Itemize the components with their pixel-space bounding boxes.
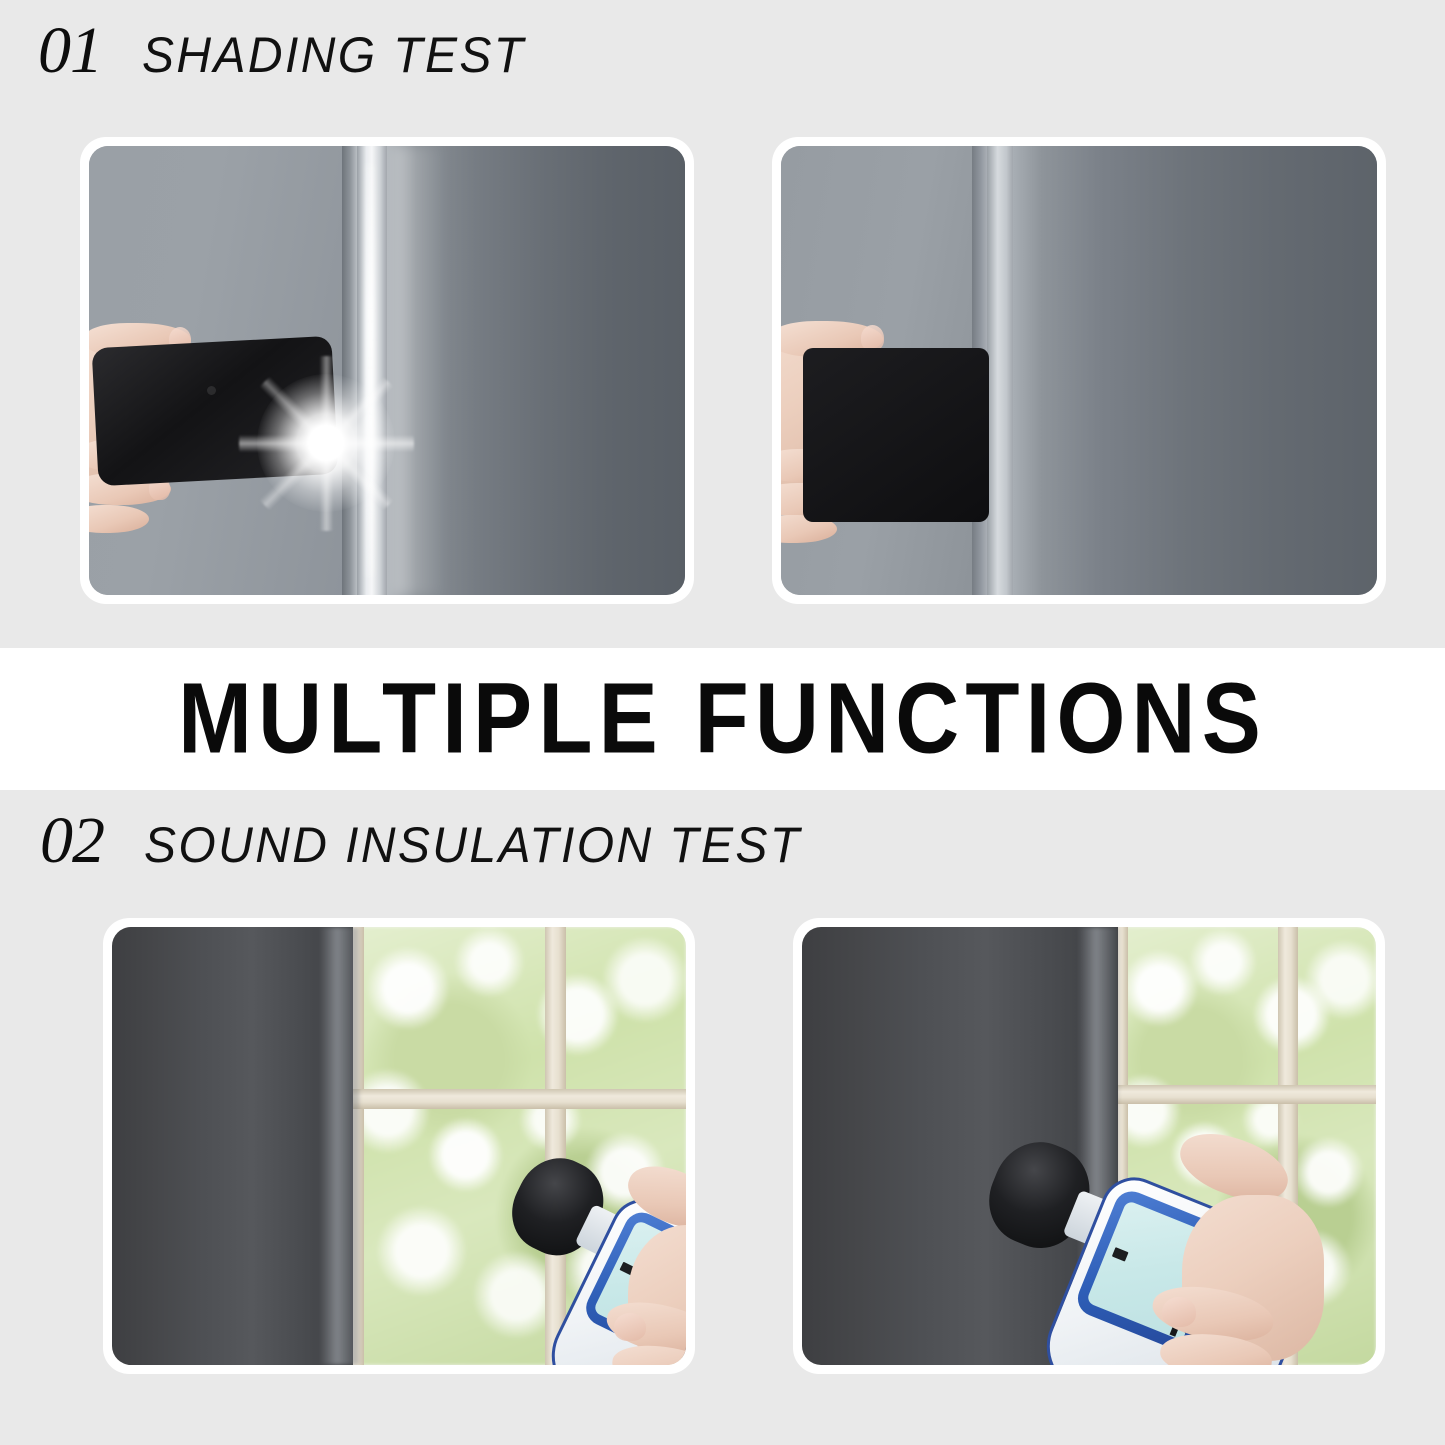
banner-multiple-functions: MULTIPLE FUNCTIONS	[0, 648, 1445, 790]
photo-sound-covered: 42.2 dB HOLD MAX MIN BENETECH GM1353 Sou…	[802, 927, 1376, 1365]
blackout-curtain	[112, 927, 353, 1365]
photo-shading-flashlight-on	[89, 146, 685, 595]
finger-pinky	[89, 505, 149, 533]
section-title-shading-test: SHADING TEST	[142, 30, 526, 80]
heading-shading-test: 01 SHADING TEST	[38, 18, 541, 84]
photo-card-sound-uncovered: 52.9 dB HOLD MAX MIN	[103, 918, 695, 1374]
heading-sound-insulation-test: 02 SOUND INSULATION TEST	[40, 808, 829, 874]
smartphone	[803, 348, 989, 522]
section-number-01: 01	[38, 18, 102, 84]
photo-card-shading-flashlight-on	[80, 137, 694, 604]
hand-holding-meter	[598, 1177, 686, 1365]
photo-card-shading-flashlight-off	[772, 137, 1386, 604]
curtain-scene	[89, 146, 685, 595]
hand-holding-meter	[1142, 1149, 1322, 1365]
curtain-edge-highlight	[319, 927, 359, 1365]
phone-camera-dot	[207, 386, 216, 395]
curtain-scene	[781, 146, 1377, 595]
window-scene: 52.9 dB HOLD MAX MIN	[112, 927, 686, 1365]
flashlight-beam	[257, 374, 395, 512]
banner-title: MULTIPLE FUNCTIONS	[178, 669, 1267, 769]
photo-sound-uncovered: 52.9 dB HOLD MAX MIN	[112, 927, 686, 1365]
photo-card-sound-covered: 42.2 dB HOLD MAX MIN BENETECH GM1353 Sou…	[793, 918, 1385, 1374]
fingernail-thumb	[614, 1313, 646, 1341]
curtain-drape	[1013, 146, 1377, 595]
curtain-drape-sheen	[393, 146, 447, 595]
photo-shading-flashlight-off	[781, 146, 1377, 595]
battery-icon	[1112, 1247, 1129, 1262]
section-number-02: 02	[40, 808, 104, 874]
window-scene: 42.2 dB HOLD MAX MIN BENETECH GM1353 Sou…	[802, 927, 1376, 1365]
section-title-sound-insulation-test: SOUND INSULATION TEST	[144, 820, 802, 870]
fingernail-thumb	[1162, 1297, 1196, 1327]
